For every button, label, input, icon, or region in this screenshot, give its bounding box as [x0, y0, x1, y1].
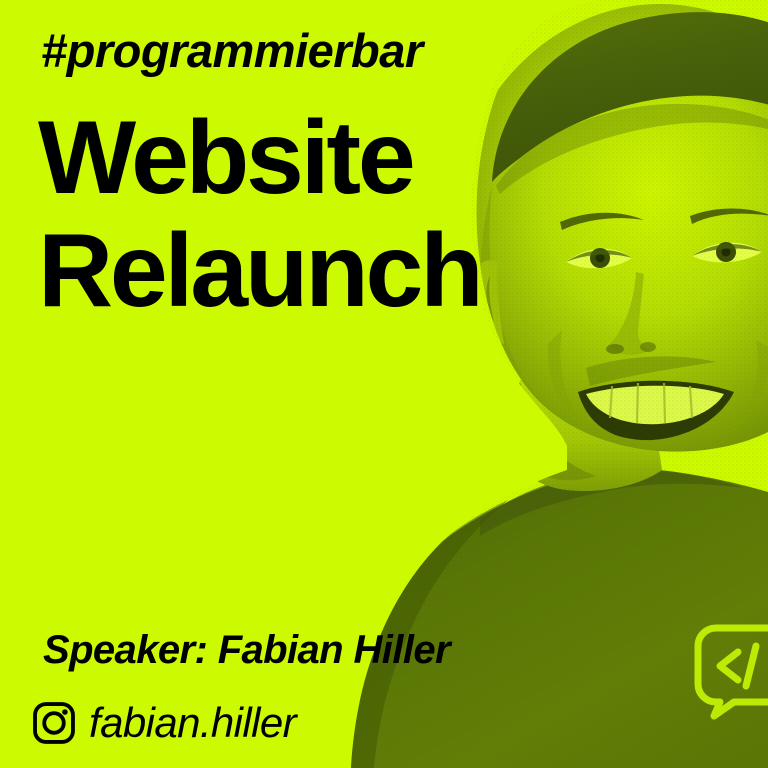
instagram-icon[interactable] [31, 700, 77, 746]
podcast-episode-poster: #programmierbar Website Relaunch Speaker… [0, 0, 768, 768]
title-line-1: Website [38, 108, 481, 221]
brand-hashtag: #programmierbar [41, 27, 423, 74]
page-title: Website Relaunch [38, 108, 481, 334]
portrait-alt-text: Duotone portrait of a smiling young man … [0, 0, 1, 1]
speaker-name: Speaker: Fabian Hiller [43, 630, 450, 670]
shirt-code-logo [698, 628, 768, 716]
title-line-2: Relaunch [38, 221, 481, 334]
instagram-handle-row[interactable]: fabian.hiller [31, 700, 296, 746]
instagram-handle-text[interactable]: fabian.hiller [89, 702, 296, 744]
